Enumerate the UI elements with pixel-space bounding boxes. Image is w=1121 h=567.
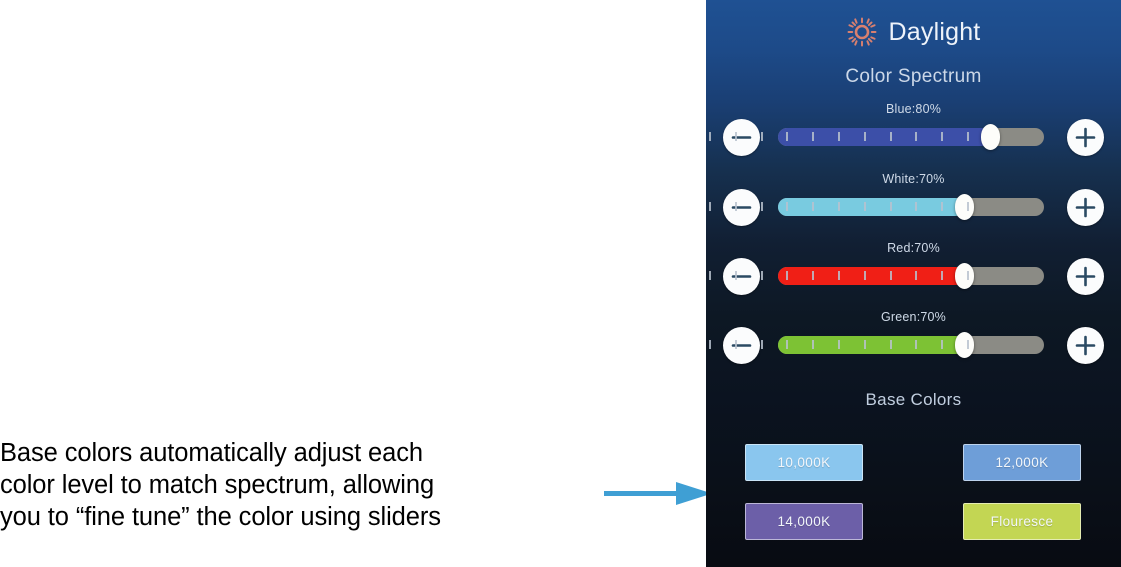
base-color-button-flouresce[interactable]: Flouresce	[963, 503, 1081, 540]
increment-blue-button[interactable]	[1067, 119, 1104, 156]
slider-label-blue: Blue:80%	[706, 102, 1121, 116]
tick-mark	[735, 271, 737, 280]
tick-mark	[812, 271, 814, 280]
tick-mark	[812, 202, 814, 211]
plus-icon	[1067, 327, 1104, 364]
tick-mark	[941, 340, 943, 349]
plus-icon	[1067, 258, 1104, 295]
tick-mark	[890, 271, 892, 280]
tick-mark	[967, 340, 969, 349]
tick-mark	[864, 271, 866, 280]
base-color-button-10-000k[interactable]: 10,000K	[745, 444, 863, 481]
tick-mark	[967, 202, 969, 211]
tick-mark	[709, 271, 711, 280]
tick-mark	[735, 202, 737, 211]
slider-ticks-red	[709, 271, 969, 280]
base-color-button-14-000k[interactable]: 14,000K	[745, 503, 863, 540]
tick-mark	[864, 202, 866, 211]
tick-mark	[890, 132, 892, 141]
tick-mark	[761, 340, 763, 349]
tick-mark	[709, 202, 711, 211]
tick-mark	[786, 340, 788, 349]
slider-ticks-white	[709, 202, 969, 211]
tick-mark	[709, 340, 711, 349]
daylight-app-panel: Daylight Color Spectrum Blue:80%White:70…	[706, 0, 1121, 567]
slider-row-green: Green:70%	[706, 310, 1121, 376]
base-color-button-12-000k[interactable]: 12,000K	[963, 444, 1081, 481]
tick-mark	[735, 132, 737, 141]
tick-mark	[890, 340, 892, 349]
slider-ticks-green	[709, 340, 969, 349]
tick-mark	[864, 132, 866, 141]
increment-green-button[interactable]	[1067, 327, 1104, 364]
slider-label-green: Green:70%	[706, 310, 1121, 324]
app-title: Daylight	[889, 18, 981, 47]
tick-mark	[838, 271, 840, 280]
tick-mark	[761, 202, 763, 211]
slider-row-red: Red:70%	[706, 241, 1121, 307]
tick-mark	[761, 271, 763, 280]
slider-row-blue: Blue:80%	[706, 102, 1121, 168]
increment-white-button[interactable]	[1067, 189, 1104, 226]
tick-mark	[709, 132, 711, 141]
tick-mark	[735, 340, 737, 349]
slider-ticks-blue	[709, 132, 969, 141]
tick-mark	[941, 202, 943, 211]
tick-mark	[915, 271, 917, 280]
app-header: Daylight	[706, 12, 1121, 52]
tick-mark	[967, 132, 969, 141]
tick-mark	[761, 132, 763, 141]
plus-icon	[1067, 119, 1104, 156]
base-color-label: 10,000K	[777, 455, 830, 470]
slider-thumb-blue[interactable]	[981, 124, 1000, 150]
slider-row-white: White:70%	[706, 172, 1121, 238]
tick-mark	[941, 271, 943, 280]
slider-label-red: Red:70%	[706, 241, 1121, 255]
caption-line-1: Base colors automatically adjust each	[0, 437, 600, 469]
tick-mark	[838, 132, 840, 141]
tick-mark	[890, 202, 892, 211]
tick-mark	[941, 132, 943, 141]
base-color-label: 14,000K	[777, 514, 830, 529]
base-colors-title: Base Colors	[706, 390, 1121, 410]
tick-mark	[915, 202, 917, 211]
tick-mark	[838, 202, 840, 211]
arrow-right-icon	[602, 480, 712, 506]
plus-icon	[1067, 189, 1104, 226]
base-color-label: Flouresce	[991, 514, 1054, 529]
tick-mark	[786, 132, 788, 141]
color-spectrum-title: Color Spectrum	[706, 66, 1121, 88]
tick-mark	[915, 340, 917, 349]
tick-mark	[838, 340, 840, 349]
slider-label-white: White:70%	[706, 172, 1121, 186]
tick-mark	[786, 271, 788, 280]
tick-mark	[864, 340, 866, 349]
tick-mark	[812, 340, 814, 349]
increment-red-button[interactable]	[1067, 258, 1104, 295]
base-color-label: 12,000K	[995, 455, 1048, 470]
tick-mark	[786, 202, 788, 211]
tick-mark	[967, 271, 969, 280]
tick-mark	[915, 132, 917, 141]
tick-mark	[812, 132, 814, 141]
annotation-caption: Base colors automatically adjust each co…	[0, 437, 600, 533]
base-colors-grid: 10,000K12,000K14,000KFlouresce	[706, 438, 1121, 553]
sun-icon	[847, 17, 877, 47]
caption-line-3: you to “fine tune” the color using slide…	[0, 501, 600, 533]
caption-line-2: color level to match spectrum, allowing	[0, 469, 600, 501]
